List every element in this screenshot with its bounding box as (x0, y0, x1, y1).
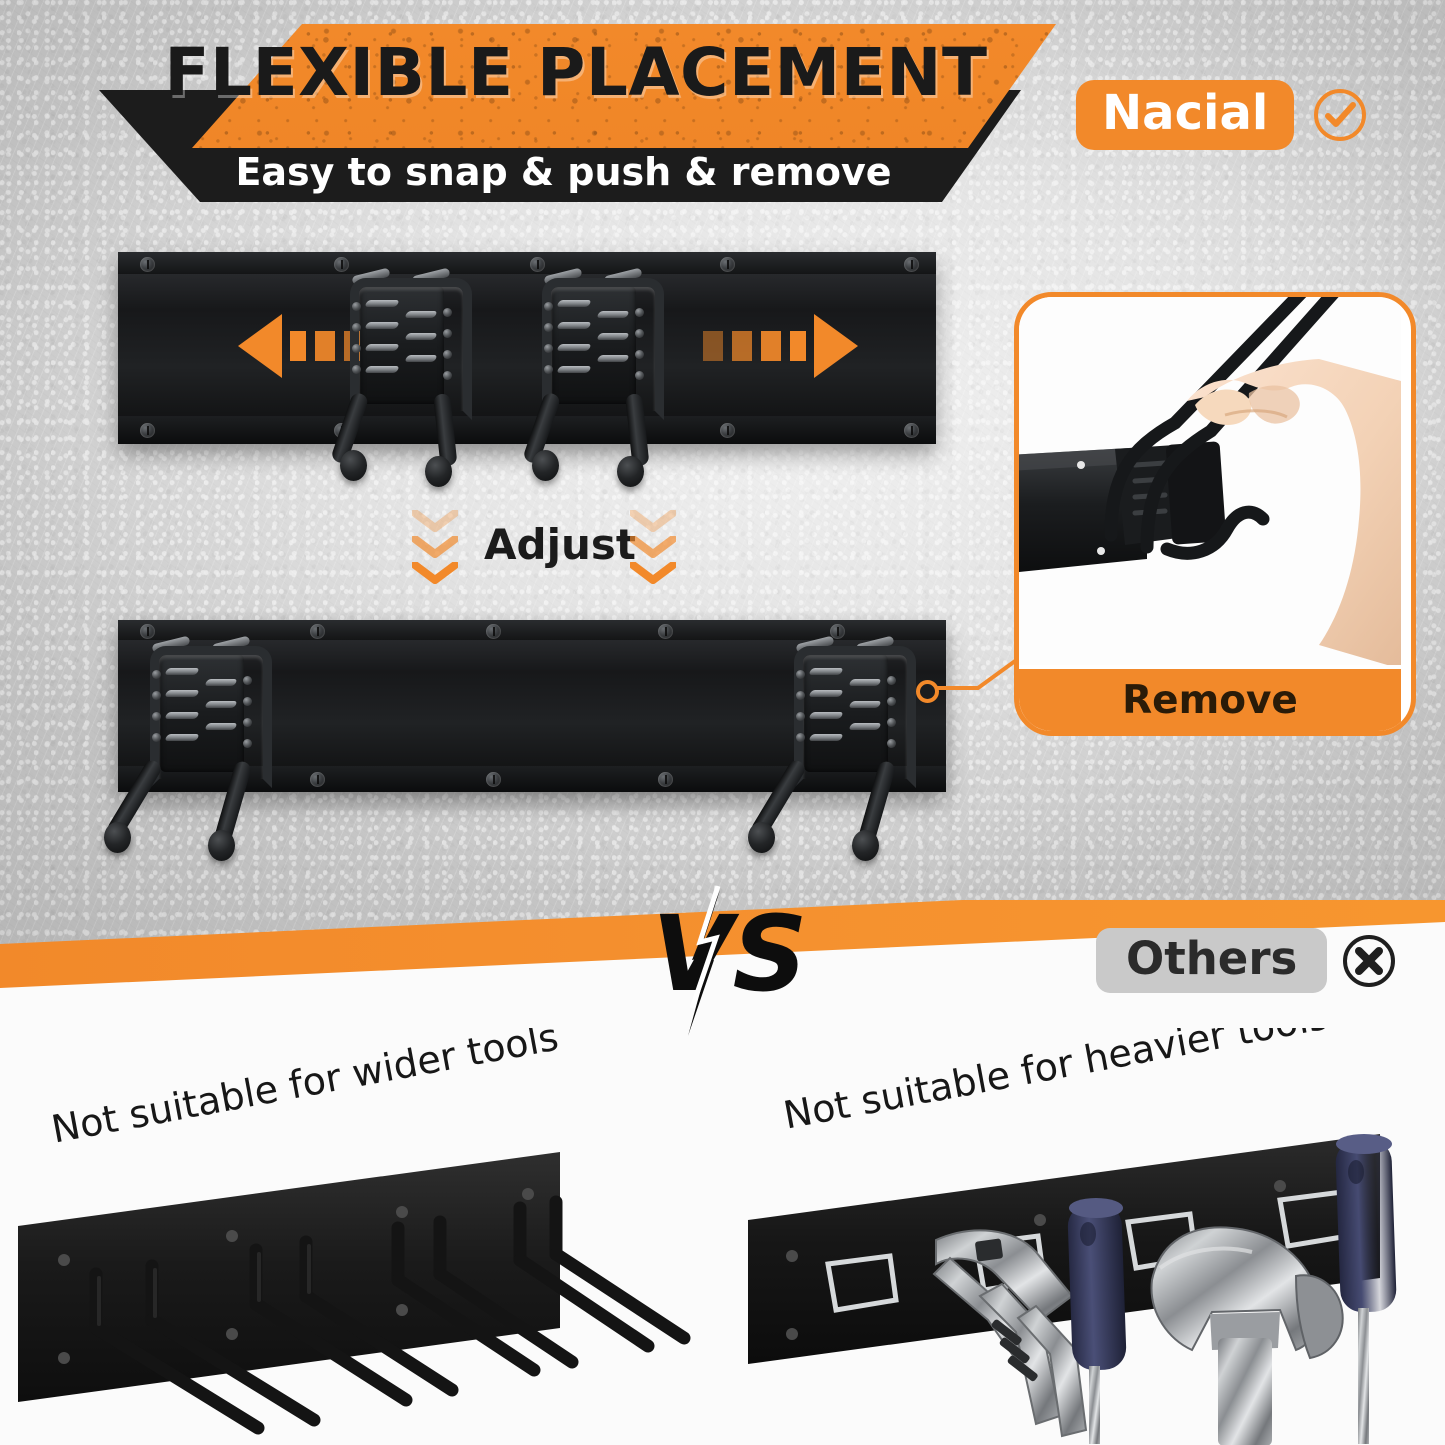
hook-peg (796, 670, 805, 679)
hook-peg (443, 350, 452, 359)
chevron-segment (630, 536, 676, 558)
hook-peg (243, 697, 252, 706)
hook-peg-column (352, 302, 361, 386)
chevron-down-icon (630, 510, 676, 588)
hook-prong-tip (852, 830, 879, 861)
hook-peg (152, 733, 161, 742)
hook-peg (887, 676, 896, 685)
rail-screw (904, 423, 919, 438)
chevron-segment (630, 510, 676, 532)
arrow-left-head (238, 314, 282, 378)
callout-connector (916, 636, 1022, 696)
top-rail (118, 252, 936, 444)
hook-assembly[interactable] (790, 640, 902, 872)
circle-x-icon (1341, 933, 1397, 989)
hook-prong-tip (340, 450, 367, 481)
hook-peg (544, 323, 553, 332)
arrow-dash (703, 331, 723, 361)
hook-peg (243, 676, 252, 685)
callout-connector-dot (916, 680, 939, 703)
brand-badge: Nacial (1076, 80, 1368, 150)
chevron-segment (630, 562, 676, 584)
banner-subtitle: Easy to snap & push & remove (96, 150, 1031, 194)
rail-screw (658, 772, 673, 787)
remove-label: Remove (1122, 678, 1298, 723)
hook-peg (635, 350, 644, 359)
rail-screw (310, 624, 325, 639)
hook-peg (243, 739, 252, 748)
remove-label-bar: Remove (1019, 669, 1401, 731)
hook-peg (544, 344, 553, 353)
others-name: Others (1096, 928, 1327, 993)
remove-illustration (1019, 297, 1401, 665)
hook-peg (152, 691, 161, 700)
hook-frame (542, 278, 664, 420)
hook-peg (152, 712, 161, 721)
hook-peg (796, 733, 805, 742)
remove-photo (1019, 297, 1401, 665)
hook-frame (350, 278, 472, 420)
hook-assembly[interactable] (146, 640, 258, 872)
rail-screw (310, 772, 325, 787)
rail-screw (658, 624, 673, 639)
rail-screw (140, 624, 155, 639)
hook-peg-column (443, 308, 452, 392)
rail-screw (140, 257, 155, 272)
hook-peg-column (544, 302, 553, 386)
comparison-wider-tools: Not suitable for wider tools (0, 1028, 700, 1445)
hook-peg (796, 712, 805, 721)
hook-peg (152, 670, 161, 679)
arrow-right-icon (703, 314, 858, 378)
banner-title: FLEXIBLE PLACEMENT (96, 34, 1056, 111)
hook-peg (544, 302, 553, 311)
chevron-down-icon (412, 510, 458, 588)
hook-peg-column (796, 670, 805, 754)
hook-peg (352, 365, 361, 374)
rail-screw (486, 772, 501, 787)
hook-assembly[interactable] (346, 272, 458, 504)
rail-screw (140, 423, 155, 438)
hook-prong-tip (104, 822, 131, 853)
hook-peg (635, 371, 644, 380)
hook-peg (544, 365, 553, 374)
adjust-label: Adjust (484, 520, 616, 569)
hook-peg (352, 344, 361, 353)
hook-peg (243, 718, 252, 727)
arrow-right-head (814, 314, 858, 378)
rail-screw (334, 257, 349, 272)
hook-peg (796, 691, 805, 700)
hook-prong-tip (617, 456, 644, 487)
hook-peg (635, 308, 644, 317)
versus-icon: VS (648, 886, 818, 1036)
hook-peg-column (243, 676, 252, 760)
comparison-heavier-tools: Not suitable for heavier tools (740, 1028, 1445, 1445)
arrow-dash (761, 331, 781, 361)
rail-screw (486, 624, 501, 639)
hook-prong-tip (425, 456, 452, 487)
rail-screw (530, 257, 545, 272)
chevron-segment (412, 510, 458, 532)
arrow-left-body (290, 331, 306, 361)
hook-frame (150, 646, 272, 788)
circle-check-icon (1312, 87, 1368, 143)
hook-peg (887, 739, 896, 748)
remove-callout: Remove (1014, 292, 1416, 736)
top-rail-lower-plate (118, 416, 936, 444)
infographic-root: FLEXIBLE PLACEMENT Easy to snap & push &… (0, 0, 1445, 1445)
top-rail-upper-plate (118, 252, 936, 274)
chevron-segment (412, 562, 458, 584)
arrow-dash (732, 331, 752, 361)
brand-name: Nacial (1076, 80, 1294, 150)
arrow-dash (315, 331, 335, 361)
hook-peg (352, 302, 361, 311)
hook-peg-column (152, 670, 161, 754)
hook-prong-tip (208, 830, 235, 861)
hook-peg (887, 718, 896, 727)
hook-frame (794, 646, 916, 788)
headline-banner: FLEXIBLE PLACEMENT Easy to snap & push &… (96, 24, 1056, 202)
rail-screw (904, 257, 919, 272)
hook-assembly[interactable] (538, 272, 650, 504)
hook-peg (443, 308, 452, 317)
hook-peg (443, 371, 452, 380)
hook-peg (887, 697, 896, 706)
svg-text:VS: VS (652, 893, 807, 1015)
hook-peg (352, 323, 361, 332)
hook-prong-tip (532, 450, 559, 481)
adjust-indicator: Adjust (408, 508, 688, 594)
hook-peg (635, 329, 644, 338)
hook-peg-column (635, 308, 644, 392)
hook-peg (443, 329, 452, 338)
arrow-right-body (790, 331, 806, 361)
rail-screw (720, 423, 735, 438)
hook-prong-tip (748, 822, 775, 853)
rail-screw (720, 257, 735, 272)
hook-peg-column (887, 676, 896, 760)
others-badge: Others (1096, 928, 1397, 993)
chevron-segment (412, 536, 458, 558)
